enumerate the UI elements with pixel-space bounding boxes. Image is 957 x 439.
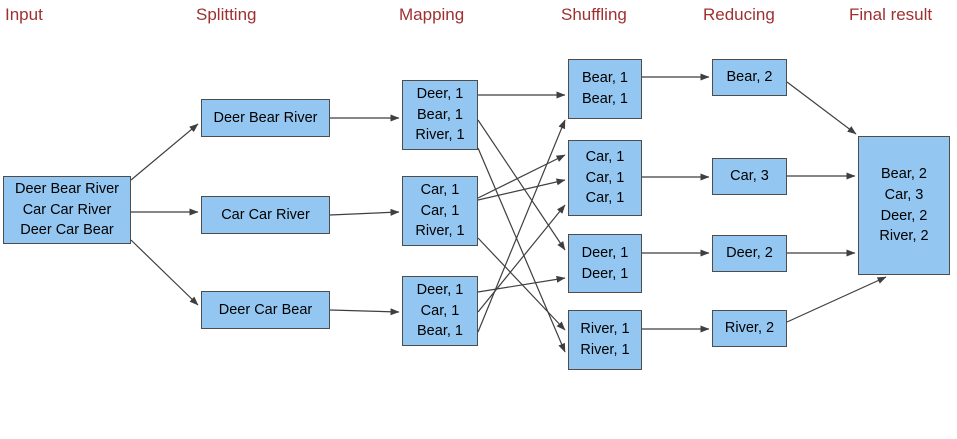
input-box-line: Car Car River	[23, 200, 112, 221]
map-box-1: Deer, 1Bear, 1River, 1	[402, 80, 478, 150]
final-result-box-line: Bear, 2	[881, 164, 927, 185]
shuffle-box-4-line: River, 1	[580, 319, 629, 340]
shuffle-box-4: River, 1River, 1	[568, 310, 642, 370]
map-box-2-line: Car, 1	[421, 201, 460, 222]
map-box-3: Deer, 1Car, 1Bear, 1	[402, 276, 478, 346]
map-box-2-line: Car, 1	[421, 180, 460, 201]
edge-layer	[0, 0, 957, 439]
split-box-3: Deer Car Bear	[201, 291, 330, 329]
split-box-2: Car Car River	[201, 196, 330, 234]
reduce-box-2-line: Car, 3	[730, 166, 769, 187]
edge-input-to-split1	[131, 124, 198, 180]
split-box-1: Deer Bear River	[201, 99, 330, 137]
reduce-box-4: River, 2	[712, 310, 787, 347]
column-header-input: Input	[5, 6, 43, 23]
split-box-2-line: Car Car River	[221, 205, 310, 226]
edge-map2-river-to-shuffle-river	[478, 238, 565, 330]
split-box-1-line: Deer Bear River	[214, 108, 318, 129]
reduce-box-3-line: Deer, 2	[726, 243, 773, 264]
edge-reduce4-to-final	[787, 277, 886, 322]
shuffle-box-1-line: Bear, 1	[582, 89, 628, 110]
map-box-1-line: Deer, 1	[417, 84, 464, 105]
map-box-2: Car, 1Car, 1River, 1	[402, 176, 478, 246]
split-box-3-line: Deer Car Bear	[219, 300, 312, 321]
edge-split2-to-map2	[330, 212, 399, 215]
shuffle-box-1: Bear, 1Bear, 1	[568, 59, 642, 119]
shuffle-box-3-line: Deer, 1	[582, 264, 629, 285]
reduce-box-3: Deer, 2	[712, 235, 787, 272]
edge-reduce1-to-final	[787, 82, 856, 134]
shuffle-box-3: Deer, 1Deer, 1	[568, 234, 642, 293]
edge-map2-car2-to-shuffle-car	[478, 180, 565, 200]
final-result-box-line: Car, 3	[885, 185, 924, 206]
shuffle-box-4-line: River, 1	[580, 340, 629, 361]
final-result-box-line: River, 2	[879, 226, 928, 247]
final-result-box: Bear, 2Car, 3Deer, 2River, 2	[858, 136, 950, 275]
column-header-mapping: Mapping	[399, 6, 464, 23]
edge-input-to-split3	[131, 240, 198, 305]
edge-map1-deer-to-shuffle-deer	[478, 120, 565, 250]
edge-map1-river-to-shuffle-river	[478, 148, 565, 352]
map-box-2-line: River, 1	[415, 221, 464, 242]
shuffle-box-2-line: Car, 1	[586, 147, 625, 168]
column-header-splitting: Splitting	[196, 6, 256, 23]
edge-map3-bear-to-shuffle-bear	[478, 120, 565, 332]
column-header-shuffling: Shuffling	[561, 6, 627, 23]
shuffle-box-2-line: Car, 1	[586, 168, 625, 189]
shuffle-box-2-line: Car, 1	[586, 188, 625, 209]
mapreduce-diagram: InputSplittingMappingShufflingReducingFi…	[0, 0, 957, 439]
input-box-line: Deer Bear River	[15, 179, 119, 200]
edge-map3-deer-to-shuffle-deer	[478, 278, 565, 292]
map-box-3-line: Deer, 1	[417, 280, 464, 301]
edge-map3-car-to-shuffle-car	[478, 205, 565, 312]
map-box-1-line: River, 1	[415, 125, 464, 146]
shuffle-box-3-line: Deer, 1	[582, 243, 629, 264]
reduce-box-2: Car, 3	[712, 158, 787, 195]
reduce-box-4-line: River, 2	[725, 318, 774, 339]
map-box-1-line: Bear, 1	[417, 105, 463, 126]
edge-split3-to-map3	[330, 310, 399, 312]
map-box-3-line: Bear, 1	[417, 321, 463, 342]
reduce-box-1-line: Bear, 2	[727, 67, 773, 88]
shuffle-box-1-line: Bear, 1	[582, 68, 628, 89]
input-box-line: Deer Car Bear	[20, 220, 113, 241]
final-result-box-line: Deer, 2	[881, 206, 928, 227]
column-header-reducing: Reducing	[703, 6, 775, 23]
column-header-final-result: Final result	[849, 6, 932, 23]
reduce-box-1: Bear, 2	[712, 59, 787, 96]
edge-map2-car1-to-shuffle-car	[478, 155, 565, 198]
map-box-3-line: Car, 1	[421, 301, 460, 322]
shuffle-box-2: Car, 1Car, 1Car, 1	[568, 140, 642, 216]
input-box: Deer Bear RiverCar Car RiverDeer Car Bea…	[3, 176, 131, 244]
